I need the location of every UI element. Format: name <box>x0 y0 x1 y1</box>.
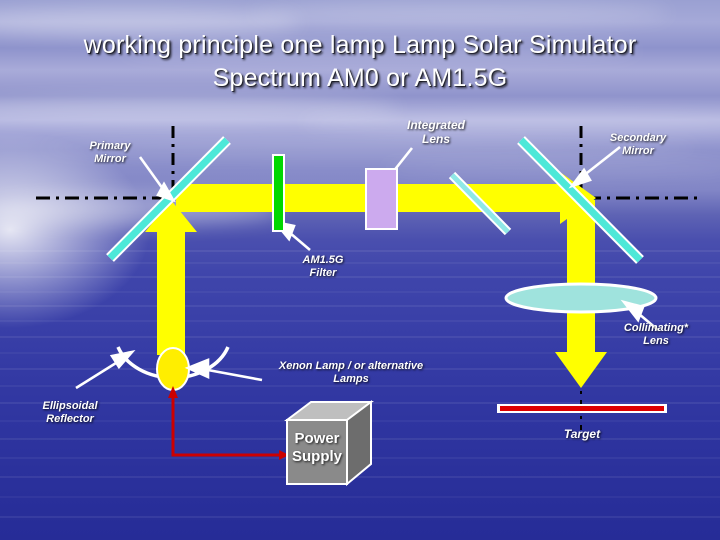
label-ellipsoidal-reflector: Ellipsoidal Reflector <box>18 400 122 426</box>
label-integrated-lens: Integrated Lens <box>378 118 494 146</box>
label-primary-mirror: Primary Mirror <box>62 140 158 166</box>
am15g-filter[interactable] <box>272 154 285 232</box>
xenon-lamp-bulb[interactable] <box>157 348 189 390</box>
target-bar[interactable] <box>497 404 667 413</box>
label-secondary-mirror: Secondary Mirror <box>586 132 690 158</box>
power-supply[interactable]: Power Supply <box>283 398 375 490</box>
label-collimating-lens: Collimating* Lens <box>608 322 704 348</box>
integrated-lens[interactable] <box>365 168 398 230</box>
label-target: Target <box>532 428 632 441</box>
beam-splitter-mirror[interactable] <box>452 175 508 232</box>
label-xenon-lamp: Xenon Lamp / or alternative Lamps <box>256 360 446 386</box>
power-wire <box>168 386 289 460</box>
slide-canvas: working principle one lamp Lamp Solar Si… <box>0 0 720 540</box>
label-am15g-filter: AM1.5G Filter <box>278 254 368 280</box>
power-supply-label: Power Supply <box>287 430 347 466</box>
secondary-mirror[interactable] <box>521 140 640 260</box>
